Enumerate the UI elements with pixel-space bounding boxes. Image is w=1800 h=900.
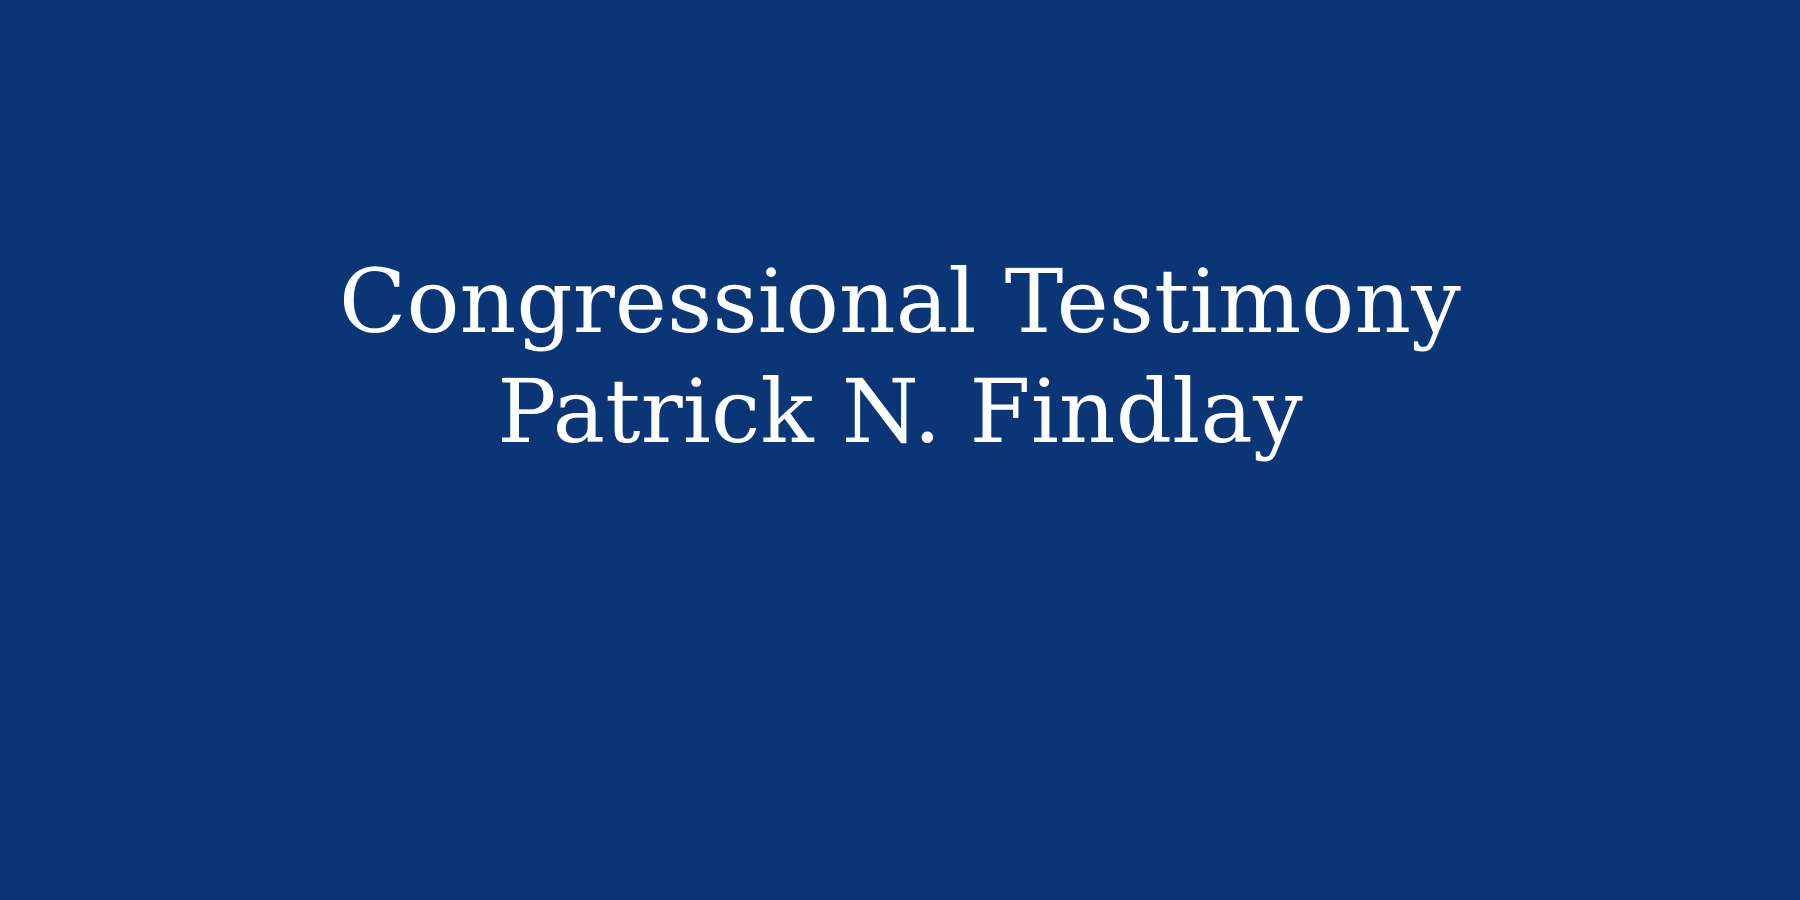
title-card: Congressional Testimony Patrick N. Findl… — [0, 0, 1800, 900]
page-title: Congressional Testimony — [339, 248, 1461, 356]
page-subtitle-author: Patrick N. Findlay — [497, 358, 1303, 466]
title-block: Congressional Testimony Patrick N. Findl… — [0, 248, 1800, 466]
